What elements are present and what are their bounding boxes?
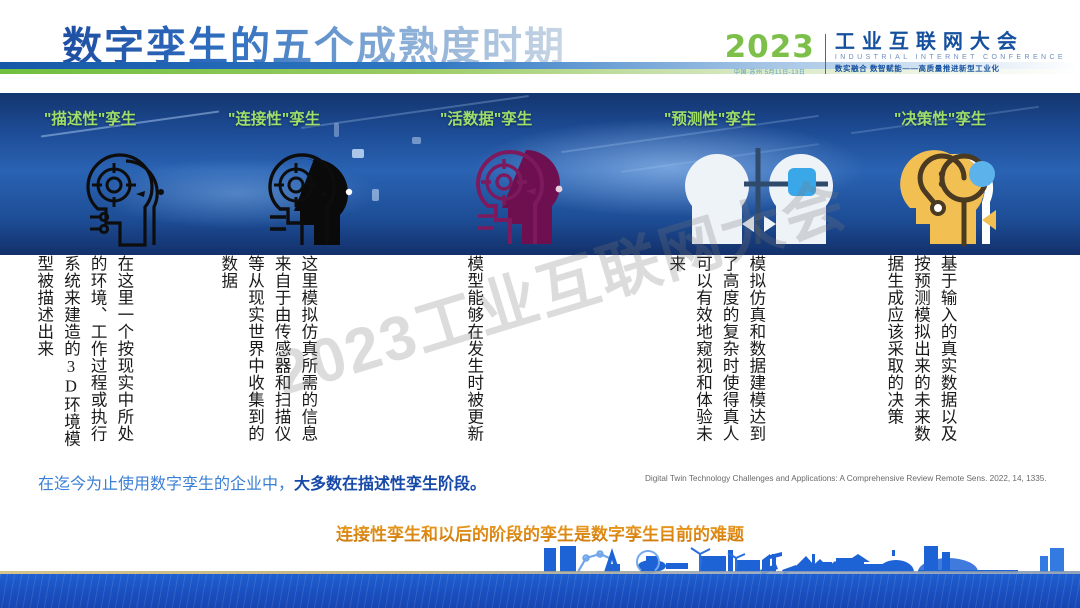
stage-title-2: "连接性"孪生 <box>228 107 320 129</box>
head-profile-cross-white-icon <box>680 132 840 255</box>
logo-divider <box>825 34 826 74</box>
description-column-4: 模拟仿真和数据建模达到了高度的复杂时使得真人可以有效地窥视和体验未来 <box>662 255 769 455</box>
description-columns: 在这里一个按现实中所处的环境、工作过程或执行系统来建造的3D环境模型被描述出来 … <box>0 255 1080 460</box>
head-profile-target-outline-icon <box>62 145 202 255</box>
slide-header: 数字孪生的五个成熟度时期 2023 中国·苏州 5月11日-13日 工业互联网大… <box>0 0 1080 95</box>
highlight-statement: 连接性孪生和以后的阶段的孪生是数字孪生目前的难题 <box>0 520 1080 545</box>
description-column-2: 这里模拟仿真所需的信息来自于由传感器和扫描仪等从现实世界中收集到的数据 <box>214 255 321 455</box>
head-profile-bulb-gold-icon <box>890 132 1040 255</box>
skyline-graphic <box>0 546 1080 574</box>
logo-name-block: 工业互联网大会 INDUSTRIAL INTERNET CONFERENCE 数… <box>835 32 1066 74</box>
logo-year: 2023 <box>725 32 815 63</box>
description-column-3: 模型能够在发生时被更新 <box>460 255 487 455</box>
stage-title-1: "描述性"孪生 <box>44 107 136 129</box>
logo-name-en: INDUSTRIAL INTERNET CONFERENCE <box>835 54 1066 61</box>
slide-root: 数字孪生的五个成熟度时期 2023 中国·苏州 5月11日-13日 工业互联网大… <box>0 0 1080 608</box>
stage-title-row: "描述性"孪生 "连接性"孪生 "活数据"孪生 "预测性"孪生 "决策性"孪生 <box>0 93 1080 133</box>
citation: Digital Twin Technology Challenges and A… <box>645 474 1047 483</box>
summary-note: 在迄今为止使用数字孪生的企业中，大多数在描述性孪生阶段。 <box>38 470 486 494</box>
logo-year-block: 2023 中国·苏州 5月11日-13日 <box>725 32 825 76</box>
description-column-5: 基于输入的真实数据以及按预测模拟出来的未来数据生成应该采取的决策 <box>880 255 960 455</box>
stage-title-4: "预测性"孪生 <box>664 107 756 129</box>
footer-skyline <box>0 546 1080 608</box>
conference-logo: 2023 中国·苏州 5月11日-13日 工业互联网大会 INDUSTRIAL … <box>725 32 1066 76</box>
logo-name-cn: 工业互联网大会 <box>835 32 1066 53</box>
sea-band <box>0 574 1080 608</box>
summary-note-plain: 在迄今为止使用数字孪生的企业中， <box>38 476 294 493</box>
description-column-1: 在这里一个按现实中所处的环境、工作过程或执行系统来建造的3D环境模型被描述出来 <box>30 255 137 455</box>
stage-title-5: "决策性"孪生 <box>894 107 986 129</box>
summary-note-bold: 大多数在描述性孪生阶段。 <box>294 476 486 493</box>
stage-banner: "描述性"孪生 "连接性"孪生 "活数据"孪生 "预测性"孪生 "决策性"孪生 <box>0 93 1080 255</box>
head-profile-target-solid-icon <box>244 145 384 255</box>
stage-title-3: "活数据"孪生 <box>440 107 532 129</box>
logo-tagline: 数实融合 数智赋能——高质量推进新型工业化 <box>835 63 1066 74</box>
head-profile-target-purple-icon <box>456 140 596 255</box>
logo-date: 中国·苏州 5月11日-13日 <box>725 67 815 76</box>
